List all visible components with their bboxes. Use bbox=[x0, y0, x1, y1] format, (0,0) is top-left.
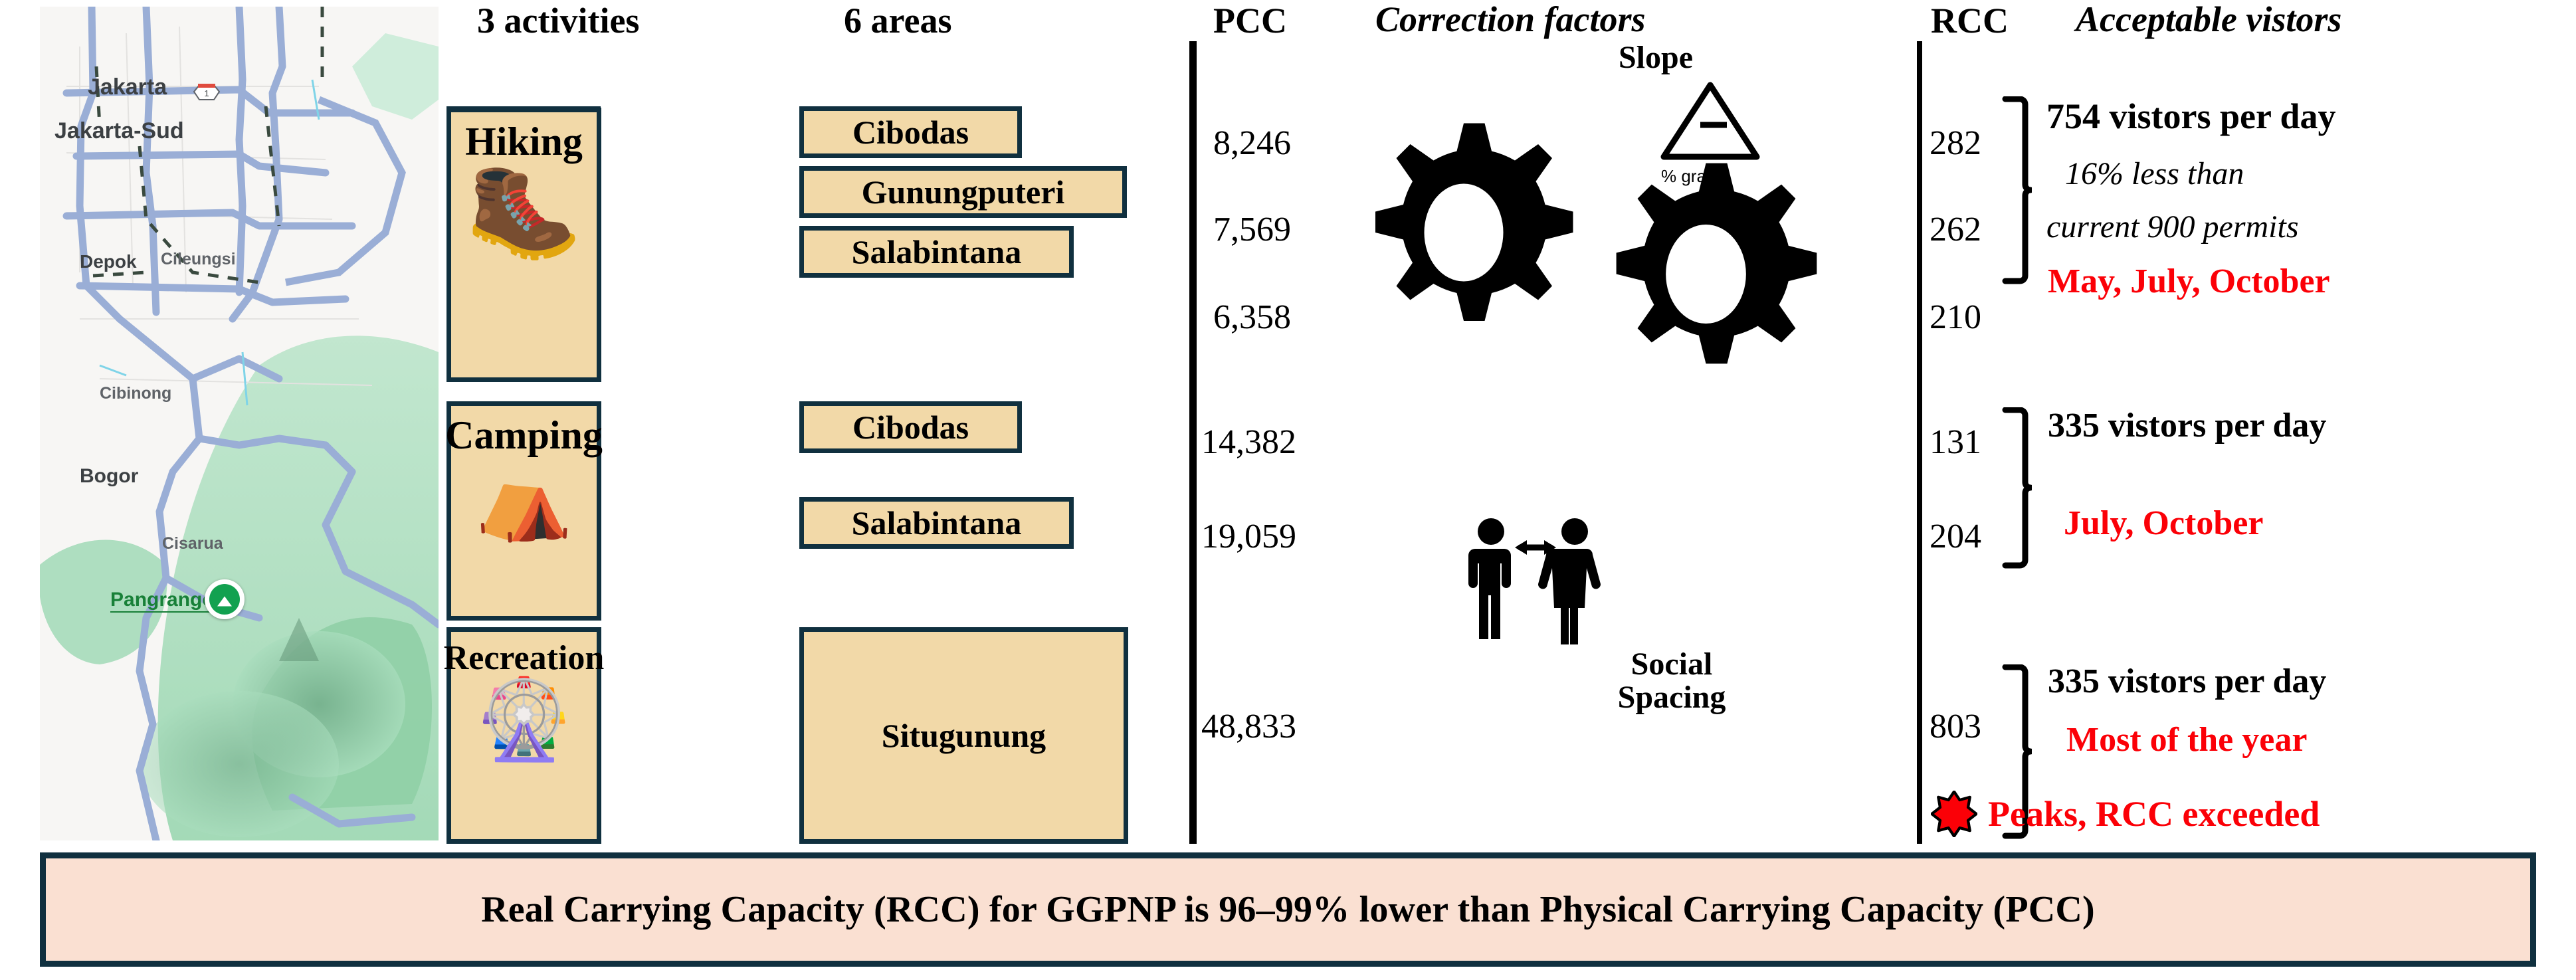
map-label-jakarta-sud: Jakarta-Sud bbox=[54, 118, 184, 144]
result-headline-recreation: 335 vistors per day bbox=[2048, 664, 2326, 699]
area-label: Gunungputeri bbox=[862, 175, 1065, 209]
ferris-wheel-emoji: 🎡 bbox=[475, 680, 573, 758]
map-label-bogor: Bogor bbox=[80, 465, 138, 488]
area-label: Cibodas bbox=[852, 411, 969, 444]
correction-factor-label-slope: Slope bbox=[1589, 41, 1722, 74]
map-label-cileungsi: Cileungsi bbox=[161, 250, 236, 269]
result-headline-hiking: 754 vistors per day bbox=[2046, 98, 2336, 134]
gear-icon bbox=[1588, 156, 1824, 392]
pcc-divider-line bbox=[1189, 41, 1197, 844]
pcc-value: 48,833 bbox=[1201, 710, 1296, 744]
red-star-icon bbox=[1931, 791, 1977, 837]
result-note-hiking-line2: current 900 permits bbox=[2046, 211, 2299, 243]
tent-emoji: ⛺ bbox=[475, 459, 573, 538]
area-label: Situgunung bbox=[882, 719, 1046, 752]
activity-label-hiking: Hiking bbox=[465, 122, 583, 161]
activities-column-title: 3 activities bbox=[477, 3, 639, 39]
map-label-jakarta: Jakarta bbox=[88, 74, 167, 100]
area-label: Salabintana bbox=[852, 235, 1022, 268]
area-box-salabintana-camping[interactable]: Salabintana bbox=[799, 497, 1074, 549]
group-brace-camping bbox=[2000, 407, 2032, 573]
area-box-cibodas-camping[interactable]: Cibodas bbox=[799, 401, 1022, 453]
map-label-depok: Depok bbox=[80, 251, 137, 272]
rcc-value: 282 bbox=[1930, 126, 1981, 161]
svg-text:1: 1 bbox=[204, 88, 209, 98]
social-spacing-line1: Social bbox=[1572, 648, 1771, 681]
peaks-exceeded-note: Peaks, RCC exceeded bbox=[1988, 796, 2320, 832]
result-months-hiking: May, July, October bbox=[2048, 264, 2330, 299]
result-months-camping: July, October bbox=[2064, 506, 2263, 541]
result-months-recreation: Most of the year bbox=[2066, 723, 2307, 757]
social-spacing-icon bbox=[1463, 512, 1609, 644]
summary-banner-text: Real Carrying Capacity (RCC) for GGPNP i… bbox=[481, 888, 2095, 931]
area-label: Cibodas bbox=[852, 116, 969, 149]
summary-banner: Real Carrying Capacity (RCC) for GGPNP i… bbox=[40, 852, 2536, 967]
map-label-pangrango: Pangrango bbox=[110, 589, 215, 613]
activity-label-camping: Camping bbox=[445, 415, 603, 455]
location-map: 1 Jakarta Jakarta-Sud Depok Cileungsi Ci… bbox=[40, 7, 439, 840]
activity-label-recreation: Recreation bbox=[444, 641, 605, 676]
pcc-value: 7,569 bbox=[1213, 213, 1291, 247]
pcc-column-title: PCC bbox=[1213, 3, 1287, 39]
activity-camping[interactable]: Camping ⛺ bbox=[446, 401, 601, 621]
pcc-value: 6,358 bbox=[1213, 300, 1291, 335]
correction-factor-label-social-spacing: Social Spacing bbox=[1572, 648, 1771, 715]
group-brace-hiking bbox=[2000, 96, 2032, 289]
activity-hiking[interactable]: Hiking 🥾 bbox=[446, 108, 601, 382]
area-label: Salabintana bbox=[852, 506, 1022, 539]
pcc-value: 8,246 bbox=[1213, 126, 1291, 161]
areas-column-title: 6 areas bbox=[844, 3, 951, 39]
result-note-hiking-line1: 16% less than bbox=[2065, 158, 2244, 190]
correction-factors-title: Correction factors bbox=[1375, 1, 1646, 37]
area-box-situgunung[interactable]: Situgunung bbox=[799, 627, 1128, 844]
rcc-value: 131 bbox=[1930, 425, 1981, 460]
slope-triangle-icon bbox=[1657, 78, 1763, 163]
rcc-divider-line bbox=[1917, 41, 1922, 844]
map-label-cisarua: Cisarua bbox=[162, 534, 223, 553]
pcc-value: 14,382 bbox=[1201, 425, 1296, 460]
gear-icon bbox=[1347, 116, 1580, 349]
area-box-salabintana-hiking[interactable]: Salabintana bbox=[799, 226, 1074, 278]
rcc-value: 803 bbox=[1930, 710, 1981, 744]
rcc-value: 262 bbox=[1930, 213, 1981, 247]
activity-recreation[interactable]: Recreation 🎡 bbox=[446, 627, 601, 844]
social-spacing-line2: Spacing bbox=[1572, 681, 1771, 714]
pcc-value: 19,059 bbox=[1201, 520, 1296, 554]
acceptable-visitors-title: Acceptable vistors bbox=[2076, 1, 2341, 37]
mountain-park-icon bbox=[205, 579, 245, 619]
area-box-cibodas-hiking[interactable]: Cibodas bbox=[799, 106, 1022, 158]
rcc-value: 204 bbox=[1930, 520, 1981, 554]
result-headline-camping: 335 vistors per day bbox=[2048, 409, 2326, 443]
map-label-cibinong: Cibinong bbox=[100, 384, 171, 403]
rcc-column-title: RCC bbox=[1931, 3, 2009, 39]
area-box-gunungputeri[interactable]: Gunungputeri bbox=[799, 166, 1127, 218]
hiking-boot-emoji: 🥾 bbox=[466, 164, 581, 257]
rcc-value: 210 bbox=[1930, 300, 1981, 335]
